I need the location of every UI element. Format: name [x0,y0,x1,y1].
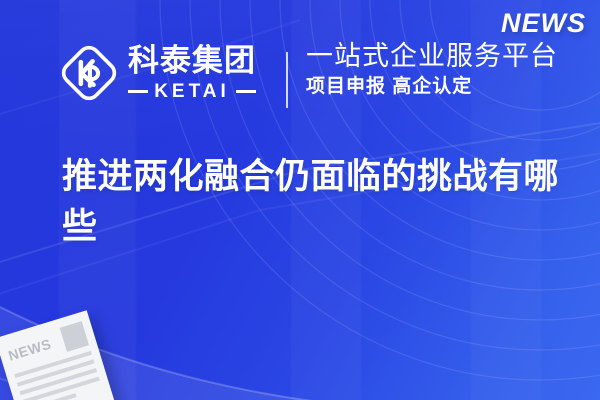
newspaper-headline: NEWS [6,333,59,363]
brand-name-en-row: KETAI [128,82,256,101]
slogan-sub-text: 项目申报 高企认定 [306,77,558,98]
brand-name-en: KETAI [154,82,230,101]
wordmark-rule-left [128,90,148,93]
ketai-diamond-kt-monogram-icon [60,44,118,102]
header-divider [286,52,288,108]
news-badge: NEWS [501,8,586,39]
article-title: 推进两化融合仍面临的挑战有哪些 [62,152,562,251]
brand-name-cn: 科泰集团 [128,45,256,76]
news-banner: 科泰集团 KETAI 一站式企业服务平台 项目申报 高企认定 NEWS 推进两化… [0,0,600,400]
brand-logo[interactable]: 科泰集团 KETAI [60,44,256,102]
newspaper-photo-placeholder-icon [60,321,89,352]
brand-slogan: 一站式企业服务平台 项目申报 高企认定 [306,42,558,98]
slogan-main-text: 一站式企业服务平台 [306,42,558,72]
banner-header: 科泰集团 KETAI 一站式企业服务平台 项目申报 高企认定 NEWS [0,0,600,132]
wordmark-rule-right [236,90,256,93]
brand-logo-wordmark: 科泰集团 KETAI [128,45,256,101]
